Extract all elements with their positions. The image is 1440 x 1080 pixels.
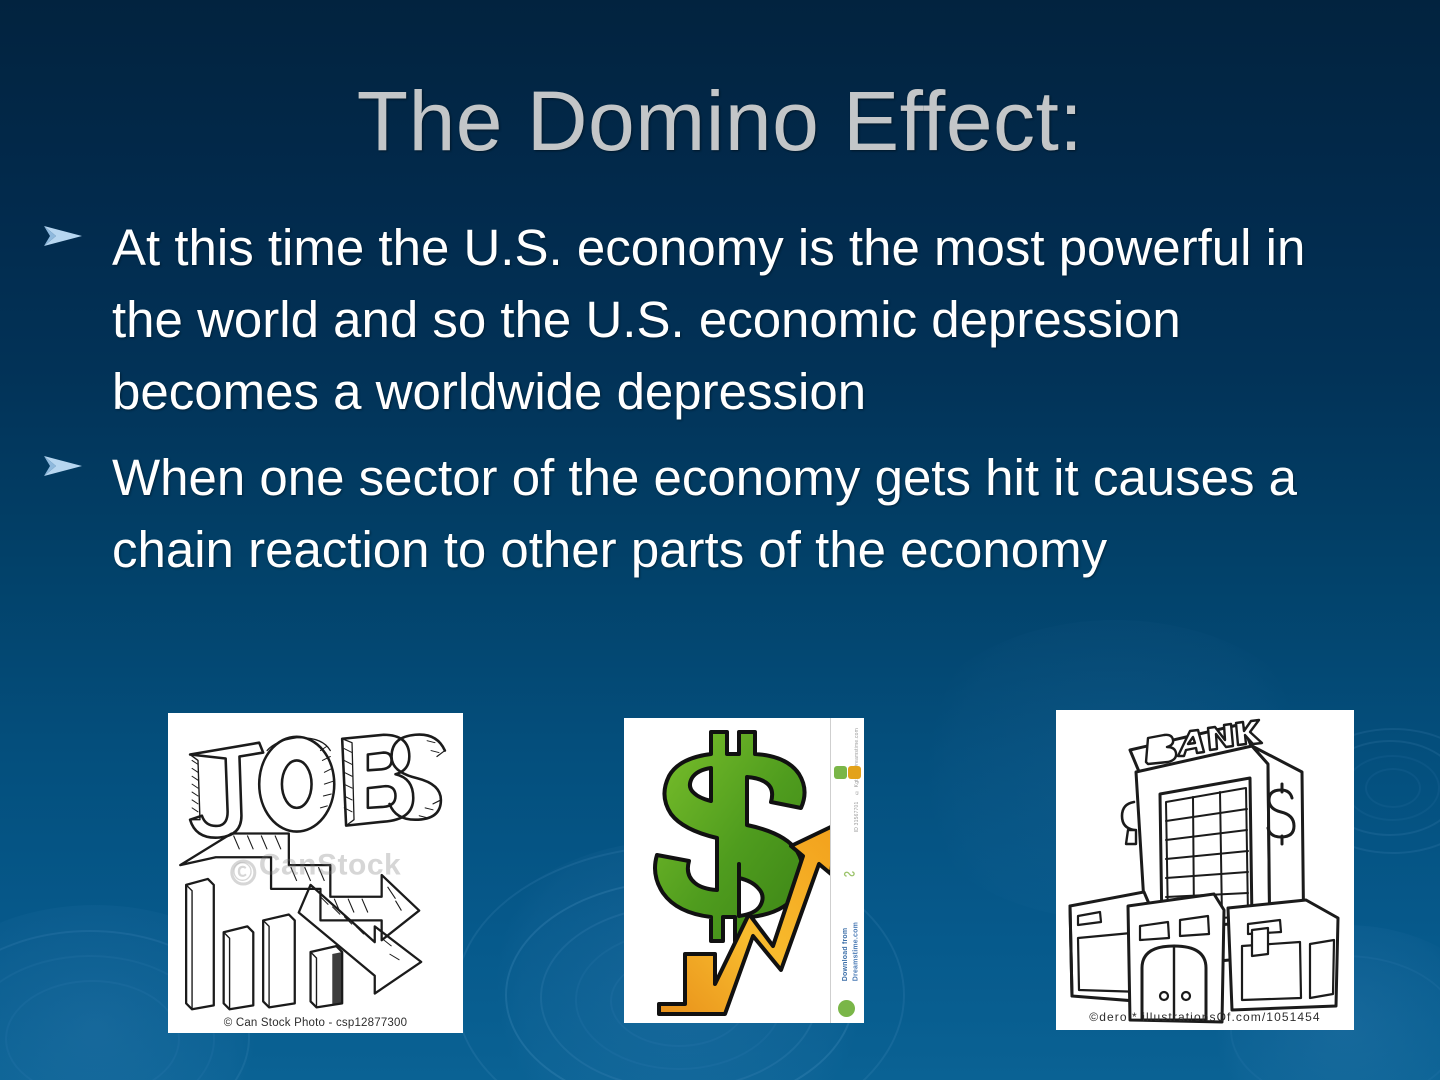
dollar-growth-clipart-image: ID 31567701 © Kgtoh | Dreamstime.com ∾ D… xyxy=(624,718,864,1023)
dreamstime-badge-icon xyxy=(834,766,847,779)
slide-title: The Domino Effect: xyxy=(0,78,1440,165)
bullet-text: At this time the U.S. economy is the mos… xyxy=(112,212,1387,428)
dreamstime-code-text: ID 31567701 © Kgtoh | Dreamstime.com xyxy=(854,728,860,832)
bullet-item: At this time the U.S. economy is the mos… xyxy=(36,212,1406,428)
chevron-arrow-bullet-icon xyxy=(36,442,112,480)
dreamstime-watermark-sidebar: ID 31567701 © Kgtoh | Dreamstime.com ∾ D… xyxy=(830,718,864,1023)
bullet-item: When one sector of the economy gets hit … xyxy=(36,442,1406,586)
presentation-slide: The Domino Effect: At this time the U.S.… xyxy=(0,0,1440,1080)
jobs-image-caption: © Can Stock Photo - csp12877300 xyxy=(168,1017,463,1029)
chevron-arrow-bullet-icon xyxy=(36,212,112,250)
dreamstime-badge-icon xyxy=(848,766,861,779)
bank-building-clipart-image: ©dero * illustrationsOf.com/1051454 xyxy=(1056,710,1354,1030)
bank-image-caption: ©dero * illustrationsOf.com/1051454 xyxy=(1056,1010,1354,1024)
dreamstime-squiggle-icon: ∾ xyxy=(843,864,856,884)
image-row: ⒸCanStock © Can Stock Photo - csp1287730… xyxy=(0,705,1440,1035)
bullet-text: When one sector of the economy gets hit … xyxy=(112,442,1387,586)
dreamstime-download-label: Download from Dreamstime.com xyxy=(841,922,862,981)
jobs-decline-clipart-image: ⒸCanStock © Can Stock Photo - csp1287730… xyxy=(168,713,463,1033)
slide-body: At this time the U.S. economy is the mos… xyxy=(36,212,1406,600)
dreamstime-logo-icon xyxy=(838,1000,855,1017)
